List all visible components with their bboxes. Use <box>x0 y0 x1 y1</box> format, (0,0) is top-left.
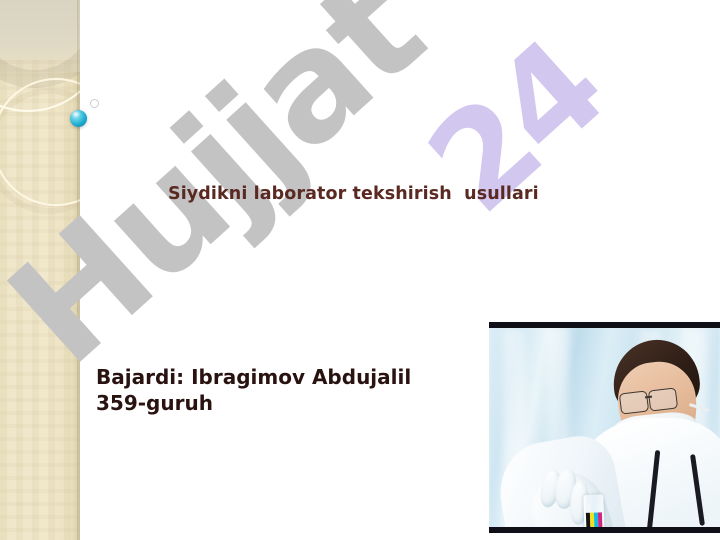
photo-border-bottom <box>489 527 720 533</box>
decorative-mini-ring-icon <box>90 99 99 108</box>
sphere-highlight <box>73 112 79 116</box>
lab-technician-photo <box>489 322 720 533</box>
photo-glasses-right <box>648 387 678 411</box>
slide-title: Siydikni laborator tekshirish usullari <box>168 184 598 206</box>
subtitle-line-group: 359-guruh <box>96 390 496 416</box>
slide-subtitle: Bajardi: Ibragimov Abdujalil 359-guruh <box>96 364 496 417</box>
decorative-ring-medium <box>0 78 80 206</box>
subtitle-line-author: Bajardi: Ibragimov Abdujalil <box>96 365 411 389</box>
photo-glasses-left <box>619 390 649 414</box>
sidebar-edge-line <box>77 0 80 540</box>
decorative-sidebar <box>0 0 80 540</box>
presentation-slide: Hujjat 24 Siydikni laborator tekshirish … <box>0 0 720 540</box>
photo-border-top <box>489 322 720 328</box>
